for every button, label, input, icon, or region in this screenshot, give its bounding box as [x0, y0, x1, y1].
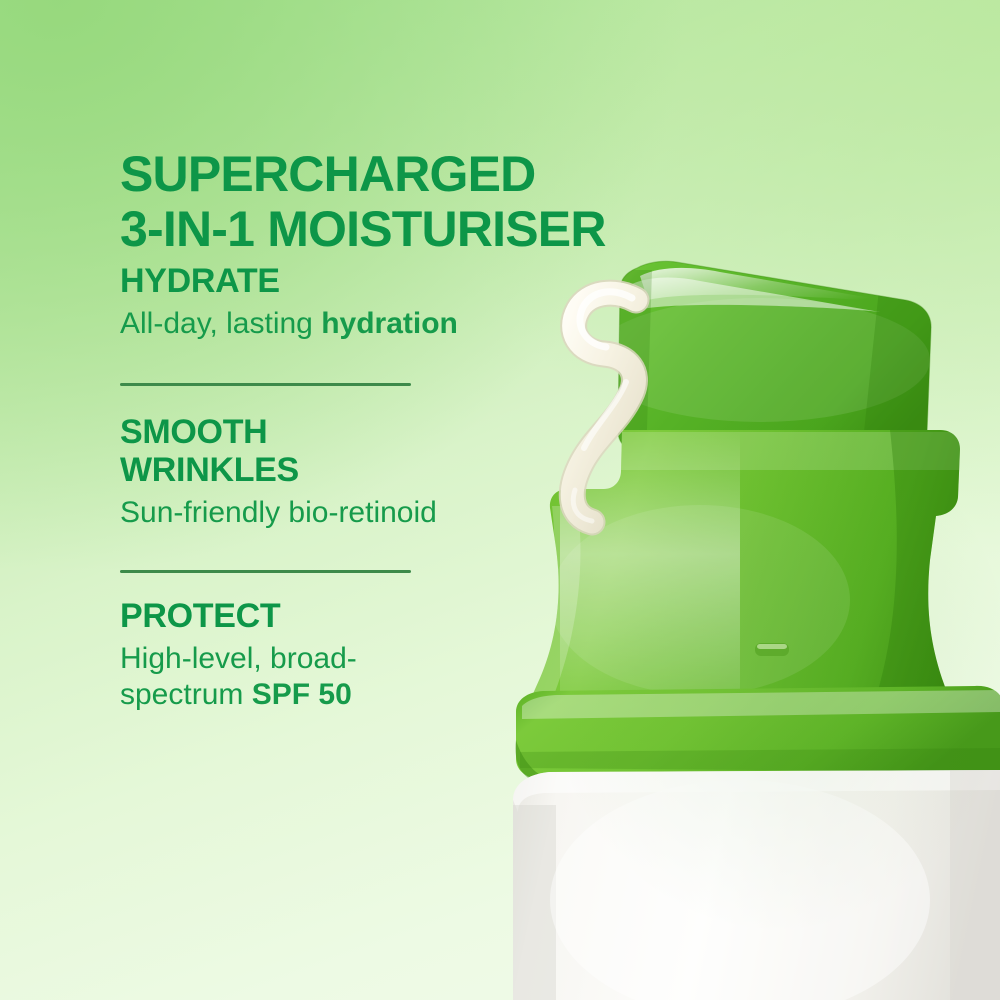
benefit-hydrate: HYDRATE All-day, lasting hydration — [120, 262, 560, 342]
benefit-smooth-wrinkles: SMOOTH WRINKLES Sun-friendly bio-retinoi… — [120, 413, 560, 531]
divider-2 — [120, 570, 411, 573]
pump-nozzle-outline — [618, 261, 931, 452]
benefit-desc-text: All-day, lasting — [120, 307, 321, 340]
cream-squiggle — [572, 292, 636, 522]
divider-1 — [120, 383, 411, 386]
benefit-description-hydrate: All-day, lasting hydration — [120, 306, 560, 342]
benefit-title-hydrate: HYDRATE — [120, 262, 560, 300]
page-title: SUPERCHARGED 3-IN-1 MOISTURISER — [120, 147, 820, 257]
benefit-desc-strong: hydration — [321, 307, 458, 340]
benefit-protect: PROTECT High-level, broad- spectrum SPF … — [120, 597, 560, 713]
benefit-desc-text: Sun-friendly bio-retinoid — [120, 496, 437, 529]
pump-nozzle — [590, 250, 960, 470]
benefit-title-protect: PROTECT — [120, 597, 560, 635]
promo-image: SUPERCHARGED 3-IN-1 MOISTURISER HYDRATE … — [0, 0, 1000, 1000]
benefit-title-smooth-wrinkles: SMOOTH WRINKLES — [120, 413, 560, 489]
bottle-collar — [500, 420, 1000, 750]
collar-notch-detail — [755, 643, 789, 656]
benefit-description-protect: High-level, broad- spectrum SPF 50 — [120, 641, 560, 713]
benefit-description-smooth-wrinkles: Sun-friendly bio-retinoid — [120, 495, 560, 531]
bottle-body — [513, 770, 1000, 1000]
bottle-base-ring — [516, 686, 1000, 784]
benefit-desc-strong: SPF 50 — [252, 678, 352, 711]
